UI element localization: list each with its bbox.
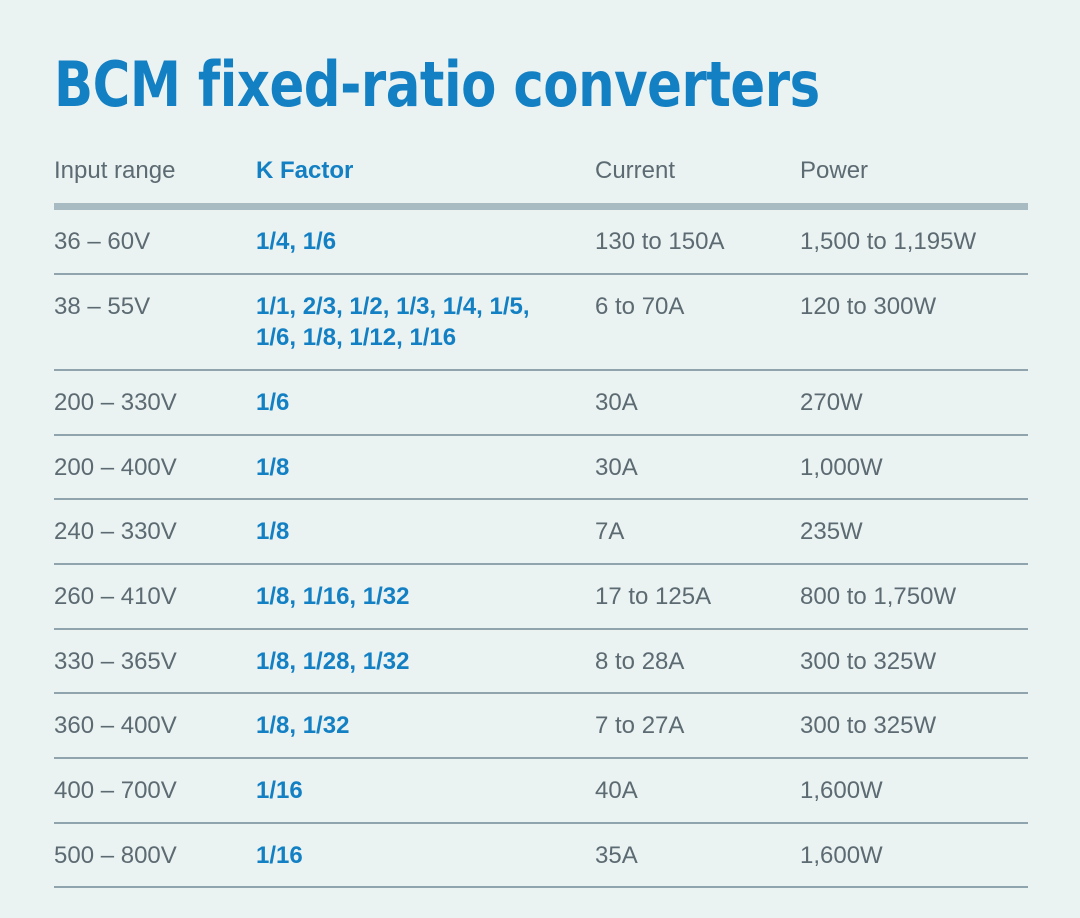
table-row: 200 – 330V1/630A270W [54, 370, 1028, 435]
cell-k-factor: 1/4, 1/6 [256, 206, 595, 273]
cell-current: 30A [595, 435, 800, 500]
cell-current: 17 to 125A [595, 564, 800, 629]
cell-k-factor: 1/16 [256, 758, 595, 823]
cell-k-factor: 1/8, 1/28, 1/32 [256, 629, 595, 694]
table-header: Input range K Factor Current Power [54, 157, 1028, 207]
cell-current: 30A [595, 370, 800, 435]
cell-k-factor: 1/6 [256, 370, 595, 435]
cell-input-range: 200 – 400V [54, 435, 256, 500]
table-row: 38 – 55V1/1, 2/3, 1/2, 1/3, 1/4, 1/5, 1/… [54, 274, 1028, 370]
column-header-current: Current [595, 157, 800, 207]
cell-input-range: 36 – 60V [54, 206, 256, 273]
table-row: 400 – 700V1/1640A1,600W [54, 758, 1028, 823]
column-header-k-factor: K Factor [256, 157, 595, 207]
cell-current: 130 to 150A [595, 206, 800, 273]
table-body: 36 – 60V1/4, 1/6130 to 150A1,500 to 1,19… [54, 206, 1028, 887]
page-title: BCM fixed-ratio converters [54, 0, 948, 119]
cell-current: 6 to 70A [595, 274, 800, 370]
table-row: 240 – 330V1/87A235W [54, 499, 1028, 564]
cell-power: 300 to 325W [800, 629, 1028, 694]
cell-power: 300 to 325W [800, 693, 1028, 758]
cell-input-range: 500 – 800V [54, 823, 256, 888]
table-row: 500 – 800V1/1635A1,600W [54, 823, 1028, 888]
column-header-input-range: Input range [54, 157, 256, 207]
cell-power: 1,600W [800, 758, 1028, 823]
bcm-converters-table: Input range K Factor Current Power 36 – … [54, 157, 1028, 888]
cell-k-factor: 1/8 [256, 435, 595, 500]
cell-input-range: 38 – 55V [54, 274, 256, 370]
cell-input-range: 240 – 330V [54, 499, 256, 564]
cell-k-factor: 1/8 [256, 499, 595, 564]
table-row: 200 – 400V1/830A1,000W [54, 435, 1028, 500]
table-row: 36 – 60V1/4, 1/6130 to 150A1,500 to 1,19… [54, 206, 1028, 273]
cell-input-range: 360 – 400V [54, 693, 256, 758]
table-row: 360 – 400V1/8, 1/327 to 27A300 to 325W [54, 693, 1028, 758]
cell-power: 270W [800, 370, 1028, 435]
cell-power: 235W [800, 499, 1028, 564]
table-row: 330 – 365V1/8, 1/28, 1/328 to 28A300 to … [54, 629, 1028, 694]
cell-k-factor: 1/16 [256, 823, 595, 888]
cell-input-range: 200 – 330V [54, 370, 256, 435]
cell-k-factor: 1/1, 2/3, 1/2, 1/3, 1/4, 1/5, 1/6, 1/8, … [256, 274, 595, 370]
cell-current: 35A [595, 823, 800, 888]
cell-power: 1,600W [800, 823, 1028, 888]
document-page: BCM fixed-ratio converters Input range K… [0, 0, 1080, 918]
cell-power: 1,500 to 1,195W [800, 206, 1028, 273]
cell-power: 800 to 1,750W [800, 564, 1028, 629]
cell-k-factor: 1/8, 1/32 [256, 693, 595, 758]
cell-current: 7A [595, 499, 800, 564]
cell-current: 7 to 27A [595, 693, 800, 758]
cell-power: 1,000W [800, 435, 1028, 500]
table-row: 260 – 410V1/8, 1/16, 1/3217 to 125A800 t… [54, 564, 1028, 629]
column-header-power: Power [800, 157, 1028, 207]
cell-input-range: 330 – 365V [54, 629, 256, 694]
cell-current: 8 to 28A [595, 629, 800, 694]
table-header-row: Input range K Factor Current Power [54, 157, 1028, 207]
cell-k-factor: 1/8, 1/16, 1/32 [256, 564, 595, 629]
cell-input-range: 400 – 700V [54, 758, 256, 823]
cell-current: 40A [595, 758, 800, 823]
cell-power: 120 to 300W [800, 274, 1028, 370]
cell-input-range: 260 – 410V [54, 564, 256, 629]
